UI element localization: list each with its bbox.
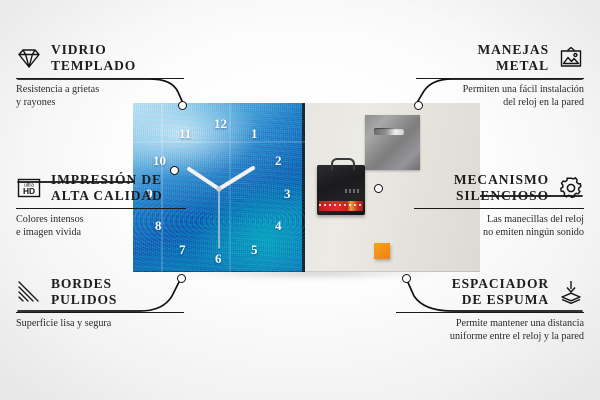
callout-manejas-metal: MANEJAS METAL Permiten una fácil instala… xyxy=(416,42,584,109)
marker-mecanismo xyxy=(374,184,383,193)
callout-title: MECANISMO SILENCIOSO xyxy=(454,172,549,204)
gear-icon xyxy=(558,175,584,201)
minute-hand xyxy=(219,168,253,189)
movement-label-strip xyxy=(319,201,363,211)
callout-rule xyxy=(16,312,184,313)
callout-desc: Las manecillas del reloj no emiten ningú… xyxy=(414,213,584,239)
picture-hanger-icon xyxy=(558,45,584,71)
callout-rule xyxy=(16,78,184,79)
callout-rule xyxy=(396,312,584,313)
hands-hub xyxy=(216,186,221,191)
movement-hanger-loop xyxy=(331,158,355,170)
foam-spacer-icon xyxy=(558,279,584,305)
callout-title: VIDRIO TEMPLADO xyxy=(51,42,136,74)
callout-title: MANEJAS METAL xyxy=(477,42,549,74)
quartz-movement xyxy=(317,165,365,215)
polished-edge-icon xyxy=(16,279,42,305)
callout-desc: Permiten una fácil instalación del reloj… xyxy=(416,83,584,109)
hour-hand xyxy=(189,169,219,189)
hanger-slot xyxy=(374,128,404,135)
ultra-hd-icon: ultra HD xyxy=(16,175,42,201)
svg-text:HD: HD xyxy=(23,186,35,196)
callout-title: IMPRESIÓN DE ALTA CALIDAD xyxy=(51,172,163,204)
movement-detail xyxy=(345,189,361,193)
callout-desc: Colores intensos e imagen vívida xyxy=(16,213,186,239)
callout-desc: Resistencia a grietas y rayones xyxy=(16,83,184,109)
infographic-canvas: 12 1 2 3 4 5 6 7 8 9 10 11 xyxy=(0,0,600,400)
callout-desc: Superficie lisa y segura xyxy=(16,317,184,330)
callout-desc: Permite mantener una distancia uniforme … xyxy=(396,317,584,343)
callout-title: BORDES PULIDOS xyxy=(51,276,117,308)
metal-hanger-plate xyxy=(365,115,420,170)
callout-title: ESPACIADOR DE ESPUMA xyxy=(452,276,549,308)
callout-impresion: ultra HD IMPRESIÓN DE ALTA CALIDAD Color… xyxy=(16,172,186,239)
callout-rule xyxy=(414,208,584,209)
callout-rule xyxy=(16,208,186,209)
callout-rule xyxy=(416,78,584,79)
diamond-icon xyxy=(16,45,42,71)
callout-mecanismo-silencioso: MECANISMO SILENCIOSO Las manecillas del … xyxy=(414,172,584,239)
callout-vidrio-templado: VIDRIO TEMPLADO Resistencia a grietas y … xyxy=(16,42,184,109)
foam-spacer xyxy=(374,243,390,259)
callout-bordes-pulidos: BORDES PULIDOS Superficie lisa y segura xyxy=(16,276,184,330)
callout-espaciador-espuma: ESPACIADOR DE ESPUMA Permite mantener un… xyxy=(396,276,584,343)
